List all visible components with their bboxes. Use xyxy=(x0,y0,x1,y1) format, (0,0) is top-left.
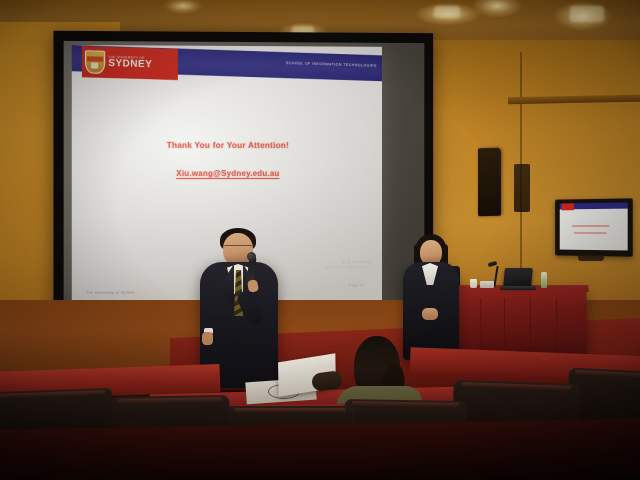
lecture-theatre-photo: THE UNIVERSITY OF SYDNEY SCHOOL OF INFOR… xyxy=(0,0,640,480)
hand-left xyxy=(202,332,213,345)
monitor-slide-text-line xyxy=(574,232,606,234)
logo-line-sydney: SYDNEY xyxy=(108,59,152,70)
wall-speaker-icon xyxy=(514,164,530,212)
slide-footer-institution: The University of Sydney xyxy=(86,291,135,295)
crest-icon xyxy=(85,50,105,74)
laptop-base xyxy=(500,286,536,290)
foreground-shadow xyxy=(0,418,640,480)
arm xyxy=(311,370,343,392)
wall-speaker-icon xyxy=(478,148,501,217)
ceiling-light-icon xyxy=(434,6,460,18)
confidence-monitor xyxy=(555,198,633,256)
hand-holding-microphone xyxy=(247,279,259,293)
papers-on-table xyxy=(480,281,494,288)
monitor-screen xyxy=(560,202,628,250)
slide-email-link[interactable]: Xiu.wang@Sydney.edu.au xyxy=(72,169,382,178)
watermark-line-2: 转到"设置"以激活 Windows。 xyxy=(326,265,372,269)
slide-content: Thank You for Your Attention! Xiu.wang@S… xyxy=(72,141,382,178)
clasped-hands xyxy=(422,308,438,320)
university-logo: THE UNIVERSITY OF SYDNEY xyxy=(82,46,178,80)
monitor-stand xyxy=(578,255,604,261)
microphone-head-icon xyxy=(247,252,256,261)
paper-cup xyxy=(470,279,477,288)
monitor-slide-text-line xyxy=(572,225,610,227)
slide-headline: Thank You for Your Attention! xyxy=(72,141,382,150)
laptop-screen xyxy=(503,268,533,287)
logo-wordmark: THE UNIVERSITY OF SYDNEY xyxy=(108,56,152,71)
monitor-slide-logo xyxy=(562,203,574,210)
windows-activation-watermark: 激活 Windows 转到"设置"以激活 Windows。 xyxy=(326,259,372,269)
water-bottle xyxy=(541,272,547,288)
ceiling-light-icon xyxy=(570,6,604,22)
slide-page-number: Page 64 xyxy=(349,283,364,287)
eyeglasses-icon xyxy=(224,245,252,251)
